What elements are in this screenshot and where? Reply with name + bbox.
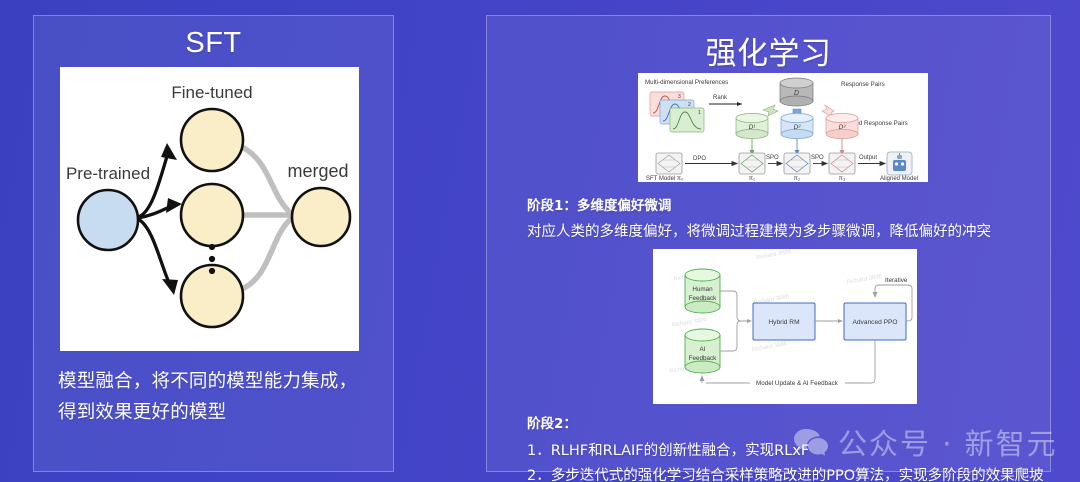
- label-dataset-d2: D²: [794, 124, 802, 131]
- cylinder-D3: D³: [826, 113, 858, 138]
- cylinder-D2: D²: [781, 113, 813, 138]
- label-dataset-d3: D³: [839, 124, 847, 131]
- cylinder-D1: D¹: [736, 113, 768, 138]
- svg-text:3: 3: [678, 94, 681, 100]
- label-dataset-d: D: [794, 90, 799, 97]
- stage1-body: 对应人类的多维度偏好，将微调过程建模为多步骤微调，降低偏好的冲突: [527, 220, 991, 241]
- label-model-update: Model Update & AI Feedback: [756, 380, 839, 387]
- cylinder-ai-feedback: AI Feedback: [685, 329, 720, 373]
- rlxf-architecture-svg: Richard 3886 Richard 3886 Richard 3886 R…: [653, 249, 917, 404]
- page-title-left: SFT: [34, 27, 393, 60]
- svg-text:2: 2: [688, 102, 691, 108]
- node-merged: [292, 188, 350, 246]
- label-spo-1: SPO: [766, 155, 779, 161]
- stage2-item-2: 2．多步迭代式的强化学习结合采样策略改进的PPO算法，实现多阶段的效果爬坡: [527, 464, 1044, 482]
- label-rank: Rank: [713, 95, 728, 101]
- node-finetuned-3: [181, 265, 243, 327]
- caption-line-1: 模型融合，将不同的模型能力集成，: [58, 366, 388, 397]
- model-merging-figure: Pre-trained Fine-tuned merged: [60, 67, 359, 351]
- label-pi3: π₃: [839, 176, 846, 182]
- label-dataset-d1: D¹: [749, 124, 757, 131]
- stage2-heading: 阶段2：: [527, 412, 577, 432]
- aligned-model-robot-icon: [887, 152, 912, 175]
- label-finetuned: Fine-tuned: [171, 83, 252, 102]
- label-pi1: π₁: [749, 176, 755, 182]
- vertical-ellipsis-icon: [209, 244, 215, 274]
- label-advanced-ppo: Advanced PPO: [852, 319, 897, 326]
- node-finetuned-1: [181, 109, 243, 171]
- box-advanced-ppo: Advanced PPO: [844, 303, 906, 340]
- label-iterative: Iterative: [885, 277, 908, 284]
- svg-text:1: 1: [698, 110, 701, 116]
- label-dpo: DPO: [693, 156, 706, 162]
- left-panel-caption: 模型融合，将不同的模型能力集成， 得到效果更好的模型: [58, 366, 388, 428]
- cylinder-human-feedback: Human Feedback: [685, 269, 720, 313]
- label-hybrid-rm: Hybrid RM: [768, 319, 799, 326]
- spo-pipeline-svg: Multi-dimensional Preferences Response P…: [638, 73, 928, 182]
- label-ai-feedback-1: AI: [700, 346, 706, 353]
- label-pi2: π₂: [794, 176, 801, 182]
- cylinder-D: D: [780, 78, 813, 106]
- stage2-item-1: 1．RLHF和RLAIF的创新性融合，实现RLxF: [527, 439, 809, 460]
- label-output: Output: [859, 155, 877, 161]
- model-merging-svg: Pre-trained Fine-tuned merged: [60, 67, 359, 351]
- caption-line-2: 得到效果更好的模型: [58, 397, 388, 428]
- label-human-feedback-1: Human: [692, 286, 713, 293]
- node-pretrained: [78, 190, 138, 250]
- label-multi-dim-pref: Multi-dimensional Preferences: [645, 79, 728, 86]
- left-panel-sft: SFT: [33, 15, 394, 472]
- label-aligned-model: Aligned Model: [880, 176, 918, 182]
- slide-canvas: SFT: [0, 0, 1080, 482]
- page-title-right: 强化学习: [487, 28, 1050, 73]
- label-merged: merged: [287, 161, 348, 181]
- label-human-feedback-2: Feedback: [689, 295, 718, 302]
- spo-pipeline-figure: Multi-dimensional Preferences Response P…: [638, 73, 928, 182]
- label-spo-2: SPO: [811, 155, 824, 161]
- merge-ribbons: [242, 147, 293, 289]
- box-hybrid-rm: Hybrid RM: [753, 303, 815, 340]
- right-panel-rl: 强化学习 Multi-dimensional Preferences Respo…: [486, 15, 1051, 472]
- node-finetuned-2: [181, 184, 243, 246]
- label-response-pairs: Response Pairs: [841, 81, 885, 88]
- stage1-heading: 阶段1：多维度偏好微调: [527, 194, 671, 214]
- label-pretrained: Pre-trained: [66, 164, 150, 183]
- label-sft-model: SFT Model π₀: [646, 176, 684, 182]
- rlxf-architecture-figure: Richard 3886 Richard 3886 Richard 3886 R…: [653, 249, 917, 404]
- label-ai-feedback-2: Feedback: [689, 355, 718, 362]
